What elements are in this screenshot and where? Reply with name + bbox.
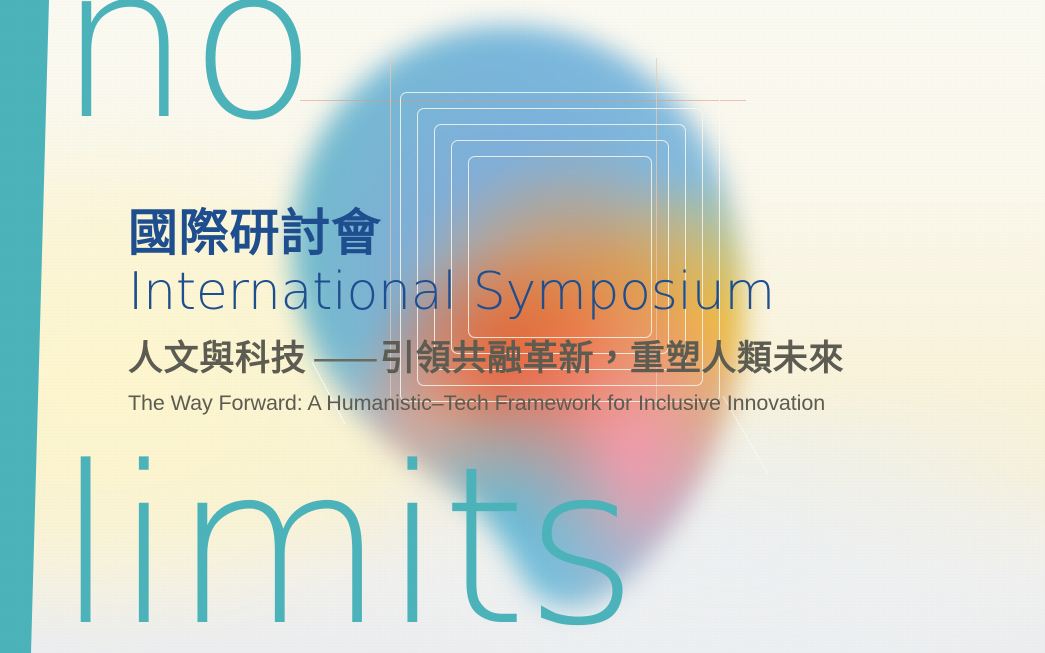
teal-left-band bbox=[0, 0, 60, 653]
symposium-poster: no limits 國際研討會 International Symposium … bbox=[0, 0, 1045, 653]
page-title-chinese: 國際研討會 bbox=[128, 206, 1028, 260]
subtitle-english: The Way Forward: A Humanistic–Tech Frame… bbox=[128, 391, 1028, 417]
wordmark-limits: limits bbox=[56, 452, 636, 644]
title-block: 國際研討會 International Symposium 人文與科技——引領共… bbox=[128, 206, 1028, 417]
subtitle-chinese-left: 人文與科技 bbox=[128, 339, 307, 379]
subtitle-chinese-right: 引領共融革新，重塑人類未來 bbox=[380, 339, 844, 379]
subtitle-chinese: 人文與科技——引領共融革新，重塑人類未來 bbox=[128, 339, 1028, 379]
wordmark-no: no bbox=[58, 0, 315, 137]
page-title-english: International Symposium bbox=[128, 264, 1028, 321]
subtitle-chinese-dash: —— bbox=[307, 339, 381, 379]
